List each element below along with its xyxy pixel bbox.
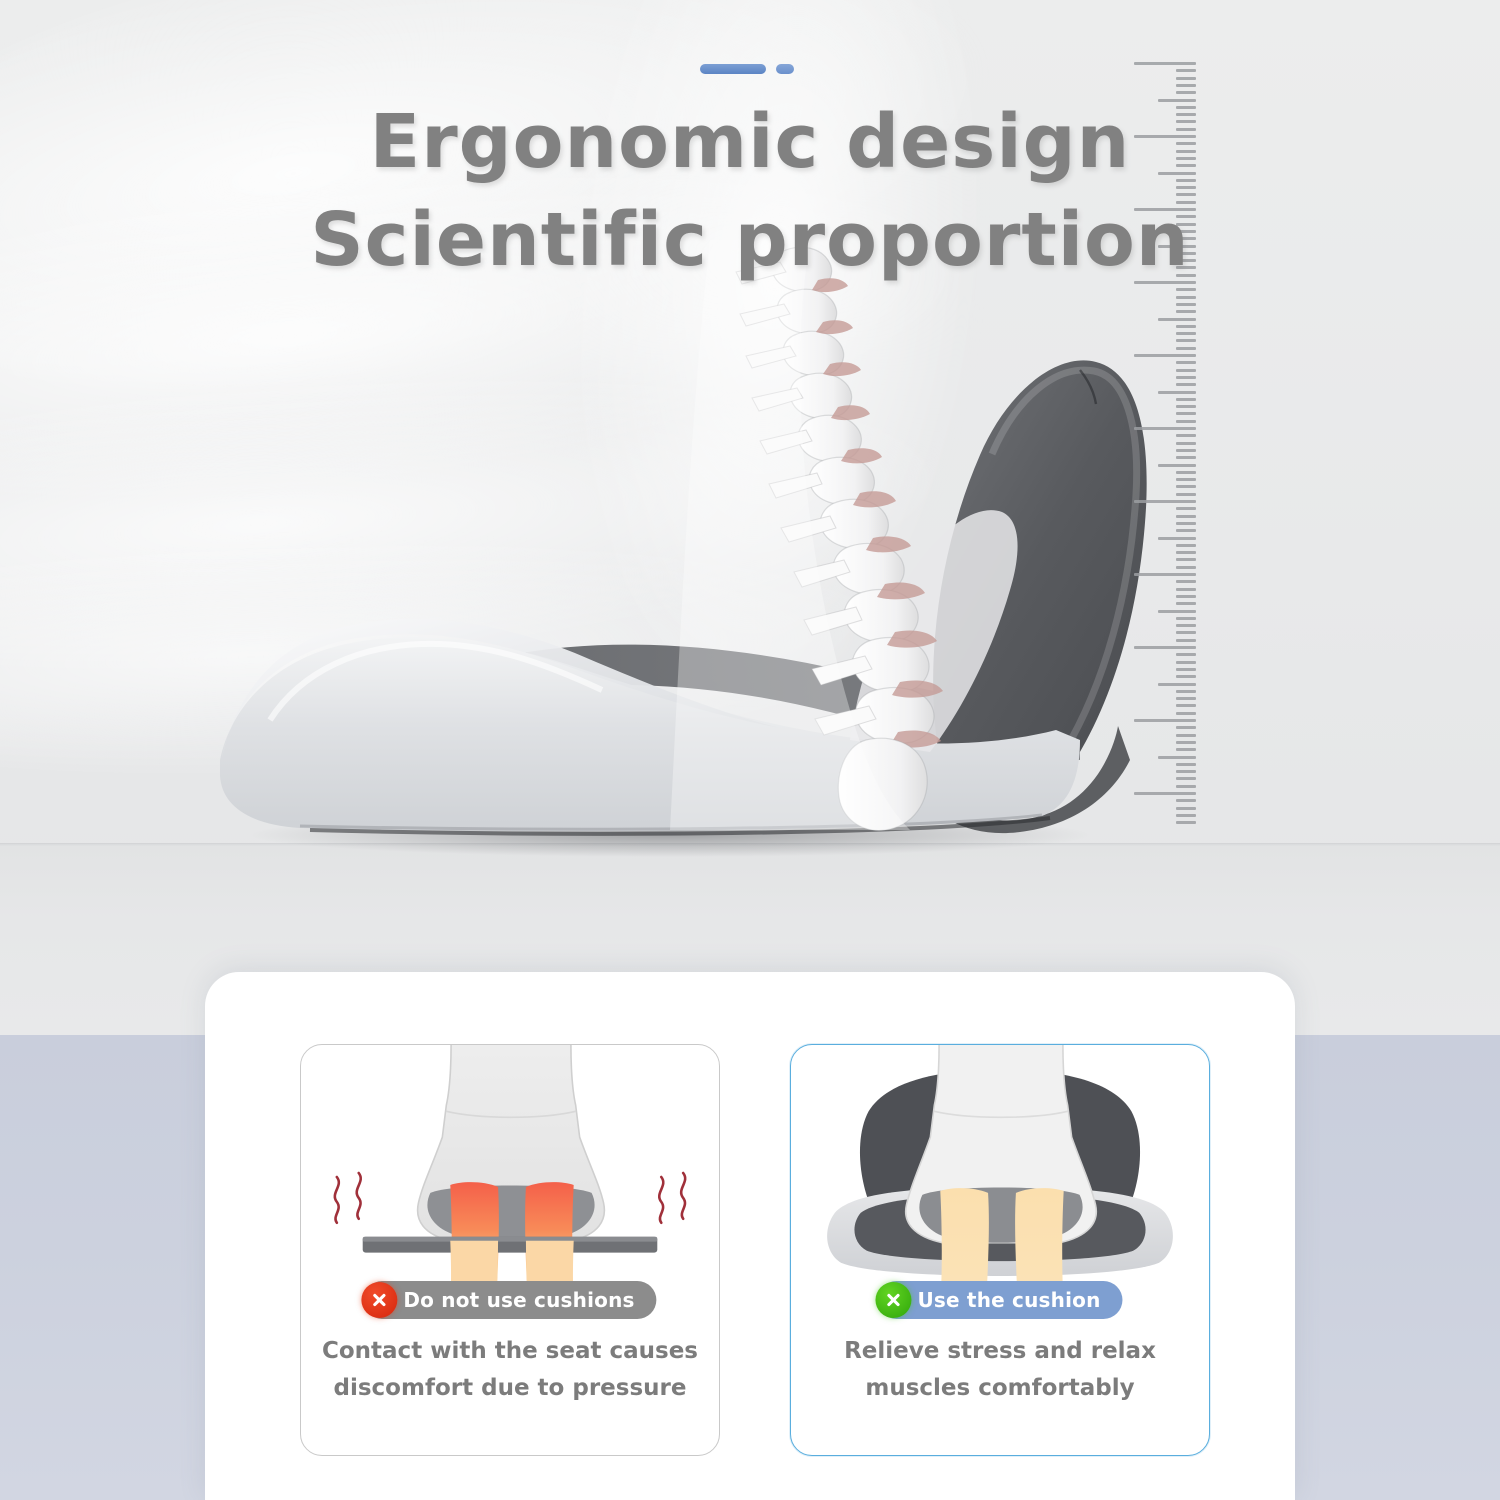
ruler-tick	[1176, 617, 1196, 620]
ruler-tick	[1176, 690, 1196, 693]
caption-line-2: muscles comfortably	[791, 1370, 1209, 1407]
ruler-tick	[1176, 566, 1196, 569]
ruler-tick	[1176, 631, 1196, 634]
ruler-tick	[1176, 442, 1196, 445]
ruler-tick	[1176, 471, 1196, 474]
ruler-tick	[1176, 478, 1196, 481]
ruler-tick	[1158, 318, 1196, 321]
ruler-tick	[1176, 558, 1196, 561]
ruler-tick	[1176, 325, 1196, 328]
ruler-tick	[1176, 515, 1196, 518]
badge-do-not-use-cushions: Do not use cushions	[363, 1281, 656, 1319]
page-title-line-2: Scientific proportion	[0, 192, 1500, 290]
ruler-tick	[1176, 704, 1196, 707]
check-mark-icon	[875, 1282, 911, 1318]
ruler-tick	[1176, 339, 1196, 342]
ruler-tick	[1134, 573, 1196, 576]
ruler-tick	[1134, 500, 1196, 503]
ruler-tick	[1134, 646, 1196, 649]
hero-section: Ergonomic design Scientific proportion	[0, 0, 1500, 1035]
x-mark-icon	[361, 1282, 397, 1318]
ruler-tick	[1134, 719, 1196, 722]
ruler-tick	[1176, 807, 1196, 810]
ruler-tick	[1176, 624, 1196, 627]
decoration-bar	[700, 64, 766, 74]
ruler-tick	[1176, 434, 1196, 437]
ruler-tick	[1176, 310, 1196, 313]
ruler-tick	[1176, 347, 1196, 350]
ruler-tick	[1176, 763, 1196, 766]
panel-caption-with-cushion: Relieve stress and relax muscles comfort…	[791, 1333, 1209, 1408]
ruler-tick	[1176, 551, 1196, 554]
ruler-tick	[1158, 464, 1196, 467]
ruler-tick	[1176, 522, 1196, 525]
ruler-tick	[1176, 376, 1196, 379]
badge-label: Do not use cushions	[403, 1288, 634, 1312]
panel-without-cushion[interactable]: Do not use cushions Contact with the sea…	[300, 1044, 720, 1456]
product-marketing-image: Ergonomic design Scientific proportion	[0, 0, 1500, 1500]
ruler-tick	[1134, 427, 1196, 430]
decoration-dot	[776, 64, 794, 74]
caption-line-1: Contact with the seat causes	[301, 1333, 719, 1370]
illustration-ergonomic-cushion	[791, 1045, 1209, 1307]
caption-line-1: Relieve stress and relax	[791, 1333, 1209, 1370]
comparison-card: Do not use cushions Contact with the sea…	[205, 972, 1295, 1500]
ruler-tick	[1176, 821, 1196, 824]
ruler-tick	[1176, 726, 1196, 729]
ruler-tick	[1176, 653, 1196, 656]
panel-caption-without-cushion: Contact with the seat causes discomfort …	[301, 1333, 719, 1408]
ruler-tick	[1176, 785, 1196, 788]
blue-pill-dot-decoration-icon	[700, 62, 800, 76]
ruler-tick	[1134, 792, 1196, 795]
seat-cushion-product-image	[150, 240, 1150, 860]
ruler-tick	[1176, 529, 1196, 532]
ruler-tick	[1176, 748, 1196, 751]
ruler-tick	[1176, 456, 1196, 459]
ruler-tick	[1176, 485, 1196, 488]
ruler-tick	[1176, 398, 1196, 401]
ruler-tick	[1176, 332, 1196, 335]
ruler-tick	[1176, 369, 1196, 372]
ruler-tick	[1158, 756, 1196, 759]
ruler-tick	[1158, 391, 1196, 394]
ruler-tick	[1176, 712, 1196, 715]
ruler-tick	[1176, 303, 1196, 306]
panel-with-cushion[interactable]: Use the cushion Relieve stress and relax…	[790, 1044, 1210, 1456]
ruler-tick	[1176, 405, 1196, 408]
ruler-tick	[1176, 814, 1196, 817]
illustration-hard-seat	[301, 1045, 719, 1307]
ruler-tick	[1176, 449, 1196, 452]
ruler-tick	[1176, 544, 1196, 547]
ruler-tick	[1176, 507, 1196, 510]
ruler-tick	[1176, 639, 1196, 642]
page-title-line-1: Ergonomic design	[0, 94, 1500, 192]
comparison-panels: Do not use cushions Contact with the sea…	[300, 1044, 1210, 1464]
ruler-tick	[1176, 580, 1196, 583]
ruler-tick	[1176, 588, 1196, 591]
ruler-tick	[1176, 741, 1196, 744]
ruler-tick	[1134, 354, 1196, 357]
badge-use-the-cushion: Use the cushion	[877, 1281, 1122, 1319]
ruler-tick	[1176, 412, 1196, 415]
ruler-tick	[1176, 361, 1196, 364]
ruler-tick	[1176, 697, 1196, 700]
ruler-tick	[1176, 602, 1196, 605]
ruler-tick	[1176, 770, 1196, 773]
ruler-tick	[1176, 420, 1196, 423]
ruler-tick	[1158, 537, 1196, 540]
ruler-tick	[1176, 493, 1196, 496]
ruler-tick	[1158, 610, 1196, 613]
hero-title-block: Ergonomic design Scientific proportion	[0, 62, 1500, 289]
badge-label: Use the cushion	[917, 1288, 1100, 1312]
ruler-tick	[1176, 383, 1196, 386]
ruler-tick	[1176, 668, 1196, 671]
ruler-tick	[1176, 296, 1196, 299]
caption-line-2: discomfort due to pressure	[301, 1370, 719, 1407]
ruler-tick	[1158, 683, 1196, 686]
ruler-tick	[1176, 661, 1196, 664]
ruler-tick	[1176, 777, 1196, 780]
ruler-tick	[1176, 799, 1196, 802]
ruler-tick	[1176, 595, 1196, 598]
ruler-tick	[1176, 675, 1196, 678]
ruler-tick	[1176, 734, 1196, 737]
